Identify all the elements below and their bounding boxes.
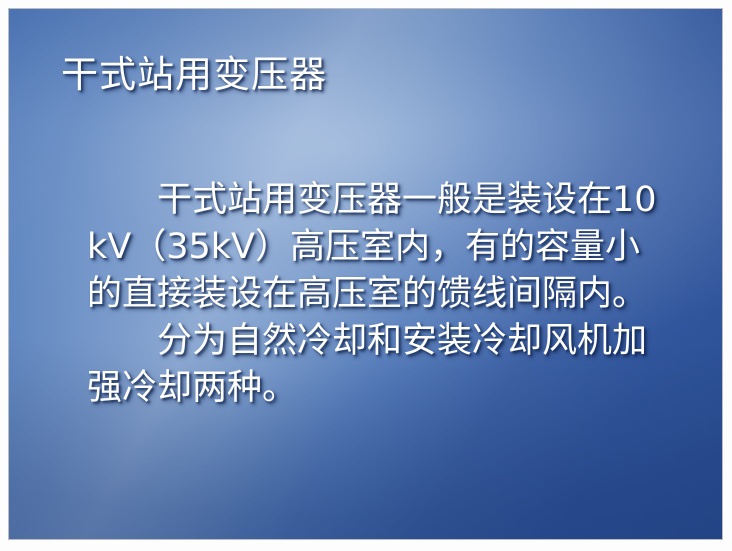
page-title: 干式站用变压器 — [61, 53, 661, 97]
body-paragraph-1: 干式站用变压器一般是装设在10kV（35kV）高压室内，有的容量小的直接装设在高… — [87, 177, 667, 318]
slide-canvas: 干式站用变压器 干式站用变压器一般是装设在10kV（35kV）高压室内，有的容量… — [8, 8, 723, 540]
slide-content: 干式站用变压器 干式站用变压器一般是装设在10kV（35kV）高压室内，有的容量… — [9, 9, 722, 539]
slide-frame: 干式站用变压器 干式站用变压器一般是装设在10kV（35kV）高压室内，有的容量… — [0, 0, 732, 551]
slide-title-placeholder[interactable]: 干式站用变压器 — [61, 53, 661, 97]
slide-body-placeholder[interactable]: 干式站用变压器一般是装设在10kV（35kV）高压室内，有的容量小的直接装设在高… — [87, 177, 667, 412]
body-paragraph-2: 分为自然冷却和安装冷却风机加强冷却两种。 — [87, 318, 667, 412]
